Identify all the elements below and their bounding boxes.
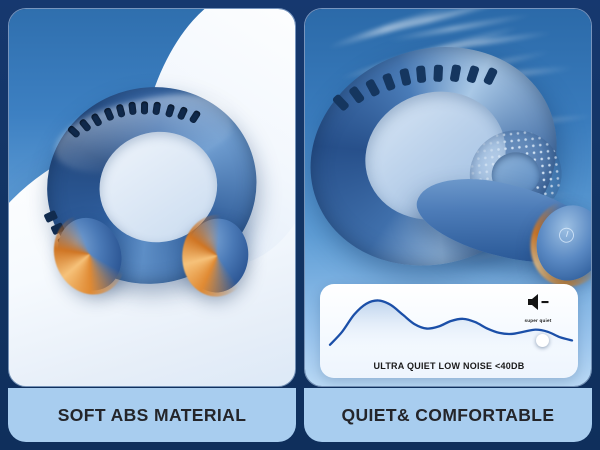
noise-level-card: super quiet ULTRA QUIET LOW NOISE <40DB bbox=[320, 284, 578, 378]
vent-slot bbox=[176, 106, 188, 121]
caption-bar-right: QUIET& COMFORTABLE bbox=[304, 388, 592, 442]
vent-slot bbox=[381, 72, 395, 91]
vent-slot bbox=[450, 64, 462, 82]
vent-slot bbox=[115, 103, 125, 117]
vent-slot bbox=[79, 118, 93, 133]
vent-slot bbox=[153, 101, 162, 115]
caption-right-text: QUIET& COMFORTABLE bbox=[342, 405, 555, 426]
vent-slot bbox=[103, 107, 115, 122]
speaker-volume-down-icon bbox=[525, 292, 551, 312]
speaker-label: super quiet bbox=[512, 318, 564, 323]
vent-slot bbox=[43, 210, 58, 223]
vent-slot bbox=[365, 78, 381, 97]
vent-slot bbox=[434, 64, 444, 81]
caption-bar-left: SOFT ABS MATERIAL bbox=[8, 388, 296, 442]
vent-slot bbox=[416, 65, 426, 83]
vent-slot bbox=[399, 68, 412, 87]
vent-slot bbox=[141, 101, 148, 114]
vent-slot bbox=[188, 109, 201, 124]
vent-slot bbox=[164, 103, 174, 117]
caption-left-text: SOFT ABS MATERIAL bbox=[58, 405, 247, 426]
panel-left bbox=[8, 8, 296, 387]
power-button-icon[interactable] bbox=[557, 226, 576, 245]
vent-slot bbox=[466, 65, 480, 84]
noise-caption: ULTRA QUIET LOW NOISE <40DB bbox=[320, 361, 578, 371]
vent-slot bbox=[128, 101, 137, 115]
vent-slot bbox=[91, 112, 104, 127]
end-cap-right bbox=[183, 216, 251, 295]
vent-slot bbox=[348, 85, 365, 104]
speaker-indicator: super quiet bbox=[512, 292, 564, 323]
promo-image: super quiet ULTRA QUIET LOW NOISE <40DB … bbox=[0, 0, 600, 450]
vent-slot bbox=[483, 67, 499, 86]
